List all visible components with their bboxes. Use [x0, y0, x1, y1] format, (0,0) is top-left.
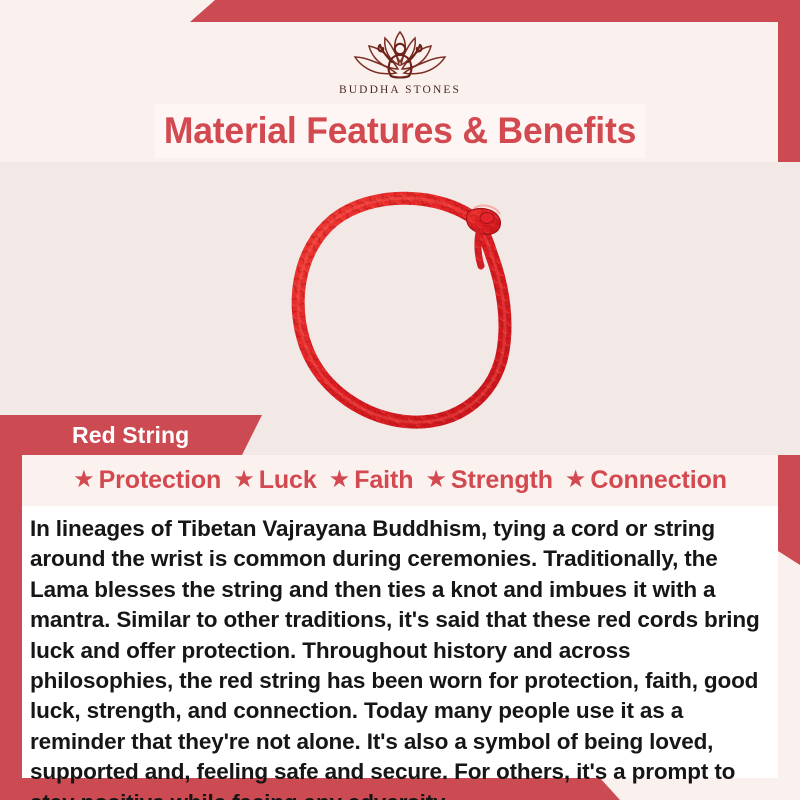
description-text: In lineages of Tibetan Vajrayana Buddhis… — [30, 514, 762, 800]
decorative-top-band — [0, 0, 800, 22]
feature-label: Luck — [259, 466, 317, 495]
features-strip: ★ Protection ★ Luck ★ Faith ★ Strength ★… — [22, 455, 778, 506]
star-icon: ★ — [565, 468, 587, 492]
red-braided-string-bracelet — [262, 172, 562, 447]
product-label: Red String — [72, 422, 189, 449]
material-features-poster: BUDDHA STONES Material Features & Benefi… — [0, 0, 800, 800]
feature-item-strength: ★ Strength — [425, 466, 553, 495]
feature-item-protection: ★ Protection — [73, 466, 221, 495]
product-image-region — [0, 162, 800, 455]
star-icon: ★ — [329, 468, 351, 492]
feature-item-connection: ★ Connection — [565, 466, 727, 495]
page-title: Material Features & Benefits — [164, 110, 636, 152]
product-label-banner: Red String — [0, 415, 262, 455]
lotus-meditation-icon — [325, 24, 475, 82]
feature-label: Protection — [99, 466, 222, 495]
star-icon: ★ — [73, 468, 95, 492]
feature-item-luck: ★ Luck — [233, 466, 316, 495]
star-icon: ★ — [425, 468, 447, 492]
title-banner: Material Features & Benefits — [155, 104, 645, 158]
brand-wordmark: BUDDHA STONES — [339, 84, 461, 96]
feature-label: Faith — [354, 466, 413, 495]
feature-item-faith: ★ Faith — [329, 466, 414, 495]
brand-logo-block: BUDDHA STONES — [0, 22, 800, 100]
feature-label: Strength — [451, 466, 553, 495]
description-region: In lineages of Tibetan Vajrayana Buddhis… — [22, 506, 778, 778]
star-icon: ★ — [233, 468, 255, 492]
feature-label: Connection — [590, 466, 727, 495]
